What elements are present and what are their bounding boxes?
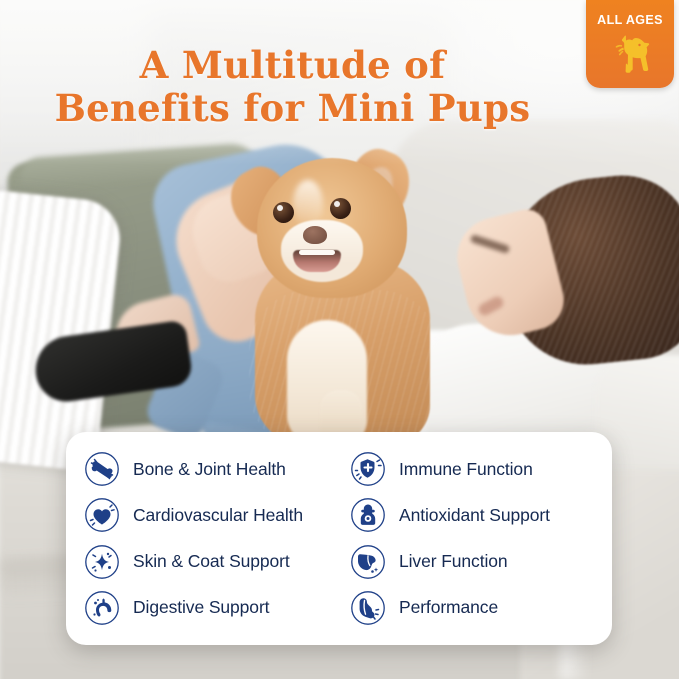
benefit-antioxidant-support: Antioxidant Support [350,493,612,537]
dog-right-eye-glint [334,201,340,207]
all-ages-badge: ALL AGES [586,0,674,88]
bone-icon [84,451,120,487]
benefit-label: Liver Function [399,551,508,572]
benefit-skin-coat-support: Skin & Coat Support [84,540,346,584]
sitting-dog-icon [610,32,656,84]
sparkle-icon [84,544,120,580]
benefit-performance: Performance [350,586,612,630]
benefit-immune-function: Immune Function [350,447,612,491]
promo-image: A Multitude of Benefits for Mini Pups AL… [0,0,679,679]
benefit-bone-joint-health: Bone & Joint Health [84,447,346,491]
muscle-icon [350,590,386,626]
liver-icon [350,544,386,580]
cell-icon [350,497,386,533]
dog-teeth [299,250,335,255]
dog-nose [303,226,327,244]
stomach-icon [84,590,120,626]
headline-line-2: Benefits for Mini Pups [0,87,585,130]
dog-left-eye-glint [277,205,283,211]
benefits-panel: Bone & Joint Health Cardiovascular Healt… [66,432,612,645]
benefit-label: Bone & Joint Health [133,459,286,480]
benefit-cardiovascular-health: Cardiovascular Health [84,493,346,537]
all-ages-badge-label: ALL AGES [586,13,674,27]
headline: A Multitude of Benefits for Mini Pups [0,44,585,131]
benefit-label: Digestive Support [133,597,269,618]
heart-icon [84,497,120,533]
benefit-label: Skin & Coat Support [133,551,290,572]
chihuahua-dog [225,140,460,440]
benefit-label: Performance [399,597,498,618]
benefits-left-column: Bone & Joint Health Cardiovascular Healt… [66,446,346,631]
benefit-digestive-support: Digestive Support [84,586,346,630]
dog-right-eye [330,198,351,219]
benefits-right-column: Immune Function Antioxidant Support [346,446,612,631]
benefit-label: Cardiovascular Health [133,505,303,526]
headline-line-1: A Multitude of [0,44,585,87]
shield-plus-icon [350,451,386,487]
benefit-label: Immune Function [399,459,533,480]
benefit-label: Antioxidant Support [399,505,550,526]
dog-left-eye [273,202,294,223]
benefit-liver-function: Liver Function [350,540,612,584]
